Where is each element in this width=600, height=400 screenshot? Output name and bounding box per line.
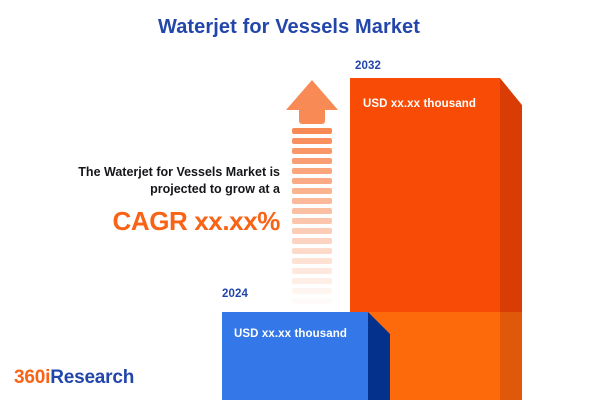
bar-value-base-year: USD xx.xx thousand xyxy=(234,328,347,340)
arrow-segment xyxy=(292,208,332,214)
statement-line-1: The Waterjet for Vessels Market is xyxy=(18,164,280,181)
arrow-segment xyxy=(292,228,332,234)
brand-logo: 360iResearch xyxy=(14,367,134,389)
arrow-segment xyxy=(292,278,332,284)
arrow-segment xyxy=(292,248,332,254)
statement-line-2: projected to grow at a xyxy=(18,181,280,198)
arrow-segment xyxy=(292,188,332,194)
infographic-canvas: Waterjet for Vessels Market The Waterjet… xyxy=(0,0,600,400)
growth-arrow-icon xyxy=(286,80,338,312)
bar-base-year-front xyxy=(222,312,368,400)
bar-value-forecast-year: USD xx.xx thousand xyxy=(363,98,476,110)
arrow-segment xyxy=(292,148,332,154)
bar-forecast-year-overlap-side xyxy=(500,312,522,400)
arrow-segment xyxy=(292,268,332,274)
arrow-segment xyxy=(292,158,332,164)
arrow-segment xyxy=(292,198,332,204)
arrow-segment xyxy=(292,178,332,184)
growth-statement: The Waterjet for Vessels Market is proje… xyxy=(18,164,280,236)
arrow-segments xyxy=(292,128,332,312)
cagr-value: CAGR xx.xx% xyxy=(18,206,280,236)
arrow-neck-icon xyxy=(299,110,325,124)
arrow-segment xyxy=(292,258,332,264)
bar-label-base-year: 2024 xyxy=(222,288,248,300)
arrow-segment xyxy=(292,238,332,244)
arrow-segment xyxy=(292,128,332,134)
arrow-segment xyxy=(292,288,332,294)
logo-part-2: Research xyxy=(50,367,134,388)
arrow-head-icon xyxy=(286,80,338,110)
arrow-segment xyxy=(292,298,332,304)
arrow-segment xyxy=(292,168,332,174)
bar-label-forecast-year: 2032 xyxy=(355,60,381,72)
logo-part-1: 360i xyxy=(14,367,50,388)
arrow-segment xyxy=(292,218,332,224)
arrow-segment xyxy=(292,138,332,144)
page-title: Waterjet for Vessels Market xyxy=(0,16,578,39)
